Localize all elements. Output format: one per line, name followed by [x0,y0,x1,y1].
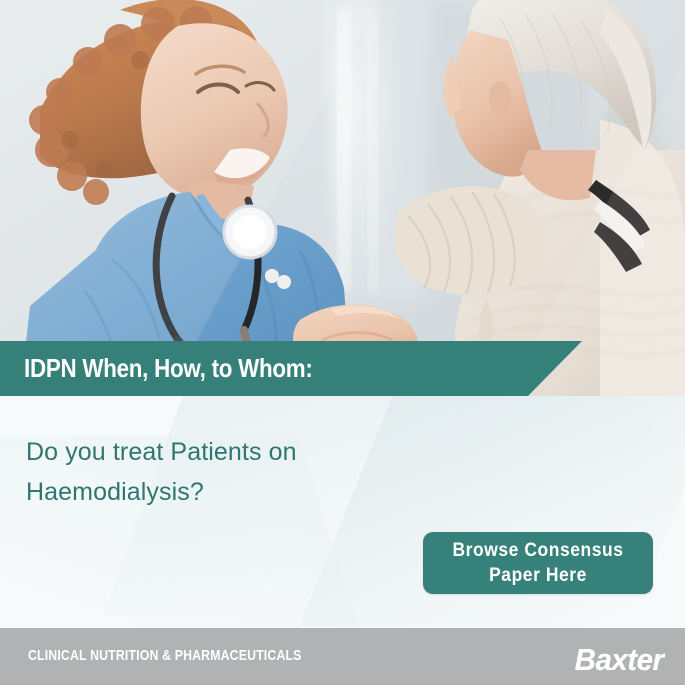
banner-title: IDPN When, How, to Whom: [24,349,313,387]
subheadline-line-2: Haemodialysis? [26,472,297,512]
subheadline-line-1: Do you treat Patients on [26,432,297,472]
cta-label-line-1: Browse Consensus [432,538,644,563]
browse-consensus-paper-button[interactable]: Browse Consensus Paper Here [423,532,653,594]
subheadline: Do you treat Patients on Haemodialysis? [26,432,297,512]
hero-photo-illustration [0,0,685,396]
advertisement-banner: IDPN When, How, to Whom: Do you treat Pa… [0,0,685,685]
footer-tagline: CLINICAL NUTRITION & PHARMACEUTICALS [28,647,302,664]
hero-photo [0,0,685,396]
cta-label-line-2: Paper Here [432,563,644,588]
footer-bar: CLINICAL NUTRITION & PHARMACEUTICALS Bax… [0,628,685,685]
baxter-logo: Baxter [574,642,663,678]
content-panel: Do you treat Patients on Haemodialysis? … [0,396,685,628]
